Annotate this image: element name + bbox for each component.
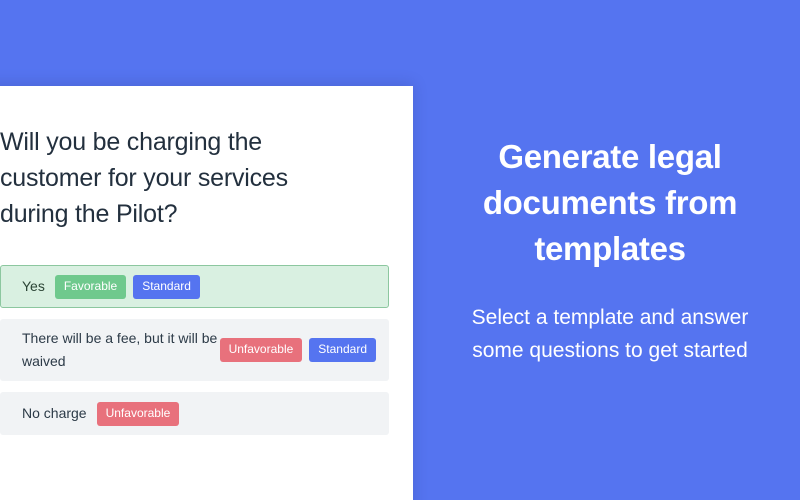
promo-panel: Generate legal documents from templates … bbox=[420, 0, 800, 500]
answer-option-label: Yes bbox=[22, 275, 45, 298]
survey-card: Will you be charging the customer for yo… bbox=[0, 86, 413, 500]
answer-option-label: There will be a fee, but it will be waiv… bbox=[22, 327, 220, 373]
badge-unfavorable: Unfavorable bbox=[220, 338, 303, 362]
badge-standard: Standard bbox=[133, 275, 200, 299]
answer-option-badges: FavorableStandard bbox=[55, 275, 200, 299]
question-title: Will you be charging the customer for yo… bbox=[0, 124, 355, 232]
answer-option-label: No charge bbox=[22, 402, 87, 425]
answer-option-badges: Unfavorable bbox=[97, 402, 180, 426]
answer-option[interactable]: No chargeUnfavorable bbox=[0, 392, 389, 435]
promo-subtitle: Select a template and answer some questi… bbox=[455, 301, 765, 367]
app-screen: Will you be charging the customer for yo… bbox=[0, 0, 800, 500]
badge-favorable: Favorable bbox=[55, 275, 126, 299]
badge-unfavorable: Unfavorable bbox=[97, 402, 180, 426]
promo-title: Generate legal documents from templates bbox=[450, 134, 770, 272]
answer-option-list: YesFavorableStandardThere will be a fee,… bbox=[0, 265, 389, 435]
answer-option[interactable]: YesFavorableStandard bbox=[0, 265, 389, 308]
answer-option[interactable]: There will be a fee, but it will be waiv… bbox=[0, 319, 389, 381]
badge-standard: Standard bbox=[309, 338, 376, 362]
answer-option-badges: UnfavorableStandard bbox=[220, 338, 376, 362]
